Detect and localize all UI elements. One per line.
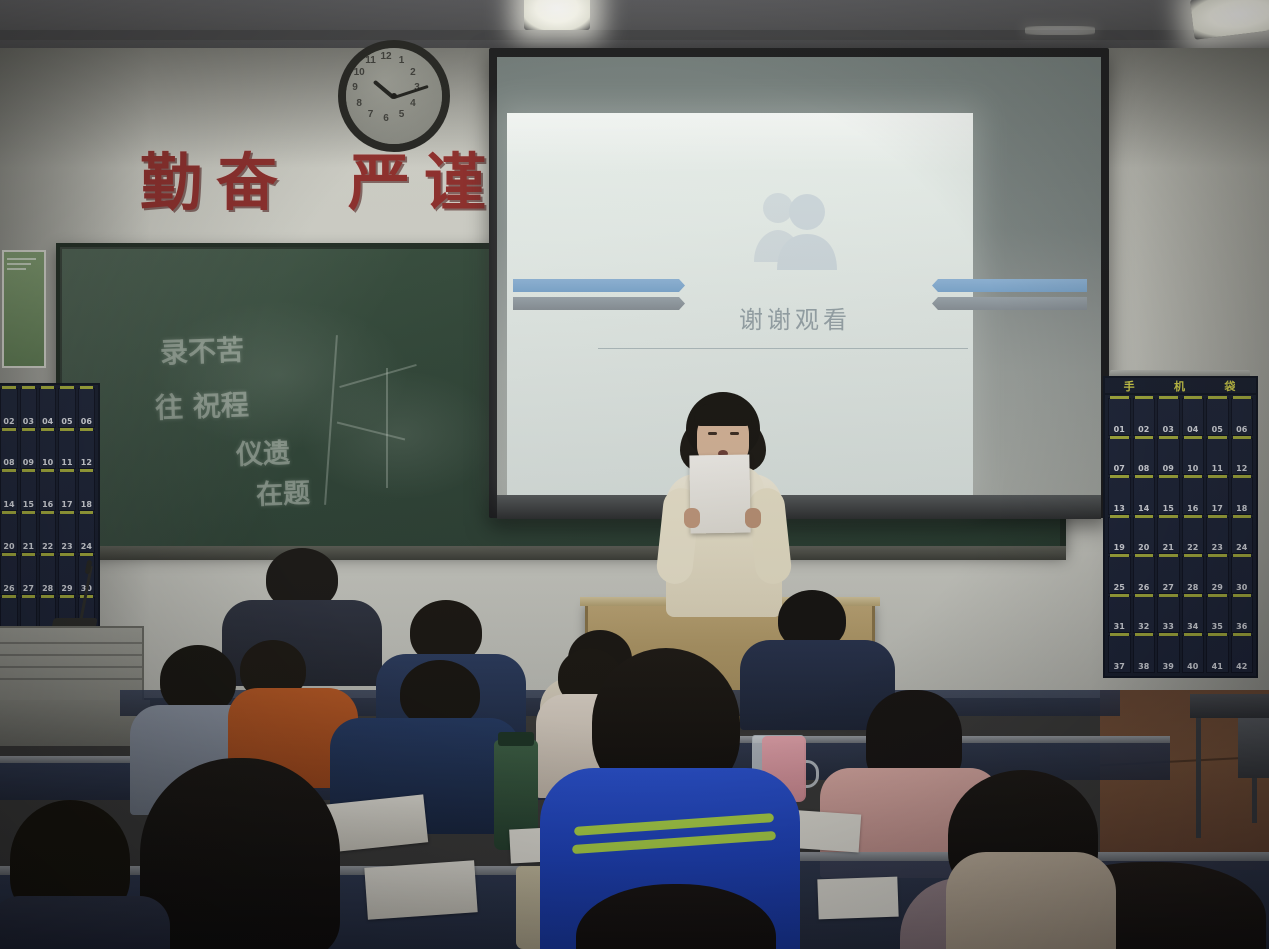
wall-slogan: 勤奋 严谨 (140, 152, 500, 214)
phone-pocket-slot[interactable]: 29 (1206, 556, 1229, 594)
phone-pocket-slot[interactable]: 17 (58, 471, 75, 511)
phone-pocket-slot[interactable]: 04 (39, 388, 56, 428)
clock-numeral: 12 (380, 51, 392, 62)
slide-banner-left (513, 279, 685, 313)
phone-pocket-slot[interactable]: 10 (1182, 438, 1205, 476)
chalk-tray (56, 546, 1066, 560)
phone-pocket-slot[interactable]: 06 (1231, 398, 1254, 436)
phone-pocket-slot[interactable]: 32 (1133, 596, 1156, 634)
clock-numeral: 10 (353, 67, 365, 78)
phone-pocket-slot[interactable]: 29 (58, 555, 75, 595)
projector-highlight (507, 113, 973, 173)
phone-pocket-slot[interactable]: 03 (20, 388, 37, 428)
phone-pocket-slot[interactable]: 22 (39, 513, 56, 553)
equipment-table (1190, 694, 1269, 718)
poster-text-line (7, 268, 26, 270)
phone-pocket-slot[interactable]: 27 (20, 555, 37, 595)
phone-pocket-slot[interactable]: 26 (0, 555, 17, 595)
pocket-header-char: 机 (1174, 378, 1187, 394)
student-front-center-head (576, 884, 776, 949)
notebook (364, 860, 477, 920)
phone-pocket-slot[interactable]: 28 (39, 555, 56, 595)
phone-pocket-slot[interactable]: 24 (78, 513, 95, 553)
phone-pocket-slot[interactable]: 21 (20, 513, 37, 553)
phone-pocket-slot[interactable]: 25 (1108, 556, 1131, 594)
phone-pocket-slot[interactable]: 11 (58, 430, 75, 470)
phone-pocket-slot[interactable]: 20 (0, 513, 17, 553)
poster-text-line (7, 263, 31, 265)
banner-bar-blue (932, 279, 1087, 292)
phone-pocket-slot[interactable]: 16 (39, 471, 56, 511)
chalk-stroke (386, 368, 388, 488)
phone-pocket-slot[interactable]: 09 (20, 430, 37, 470)
clock-numeral: 1 (396, 55, 408, 66)
wall-poster (2, 250, 46, 368)
classroom-photo: 勤奋 严谨 121234567891011 录不苦 往 祝程 仪遗 在题 谢谢观… (0, 0, 1269, 949)
phone-pocket-slot[interactable]: 17 (1206, 477, 1229, 515)
chalk-text-line: 录不苦 (159, 329, 244, 372)
phone-pocket-slot[interactable]: 01 (1108, 398, 1131, 436)
phone-pocket-slot[interactable]: 23 (1206, 517, 1229, 555)
phone-pocket-slot[interactable]: 27 (1157, 556, 1180, 594)
phone-pocket-slot[interactable]: 04 (1182, 398, 1205, 436)
equipment-box (1238, 718, 1269, 778)
student-torso (0, 896, 170, 949)
student-tan-jacket (946, 832, 1116, 949)
phone-pocket-slot[interactable]: 38 (1133, 635, 1156, 673)
phone-pocket-slot[interactable]: 05 (1206, 398, 1229, 436)
presenter-eye-left (708, 432, 717, 435)
student-presenter (648, 392, 798, 617)
clock-numeral: 9 (349, 82, 361, 93)
phone-pocket-slot[interactable]: 23 (58, 513, 75, 553)
clock-numeral: 2 (407, 67, 419, 78)
phone-pocket-slot[interactable]: 19 (1108, 517, 1131, 555)
phone-pocket-slot[interactable]: 15 (20, 471, 37, 511)
student-front-left (0, 800, 170, 949)
phone-pocket-slot[interactable]: 35 (1206, 596, 1229, 634)
clock-numeral: 11 (365, 55, 377, 66)
phone-pocket-slot[interactable]: 06 (78, 388, 95, 428)
phone-pocket-slot[interactable]: 12 (78, 430, 95, 470)
phone-pocket-slot[interactable]: 24 (1231, 517, 1254, 555)
phone-pocket-slot[interactable]: 18 (78, 471, 95, 511)
student-head (576, 884, 776, 949)
phone-pocket-slot[interactable]: 07 (1108, 438, 1131, 476)
ceiling-light-center (1025, 26, 1095, 35)
green-thermos-cap (498, 732, 534, 746)
screen-bottom-rail (497, 495, 1101, 519)
presenter-fringe (694, 404, 752, 426)
phone-pocket-slot[interactable]: 05 (58, 388, 75, 428)
phone-pocket-slot[interactable]: 20 (1133, 517, 1156, 555)
banner-bar-gray (932, 297, 1087, 310)
phone-pocket-slot[interactable]: 40 (1182, 635, 1205, 673)
slide-banner-right (932, 279, 1087, 313)
phone-pocket-slot[interactable]: 30 (1231, 556, 1254, 594)
student-torso (946, 852, 1116, 949)
clock-numeral: 6 (380, 113, 392, 124)
phone-pocket-slot[interactable]: 28 (1182, 556, 1205, 594)
phone-pocket-slot[interactable]: 39 (1157, 635, 1180, 673)
phone-pocket-slot[interactable]: 02 (1133, 398, 1156, 436)
slide-title: 谢谢观看 (700, 300, 890, 335)
clock-numeral: 4 (407, 98, 419, 109)
poster-text-line (7, 258, 36, 260)
clock-numeral: 5 (396, 109, 408, 120)
clock-numeral: 8 (353, 98, 365, 109)
phone-pocket-slot[interactable]: 22 (1182, 517, 1205, 555)
banner-bar-gray (513, 297, 685, 310)
phone-pocket-slot[interactable]: 16 (1182, 477, 1205, 515)
phone-pocket-slot[interactable]: 18 (1231, 477, 1254, 515)
student-hair-long (140, 758, 340, 949)
phone-pocket-slot[interactable]: 08 (0, 430, 17, 470)
phone-pocket-slot[interactable]: 08 (1133, 438, 1156, 476)
chalk-text-line: 在题 (255, 471, 310, 512)
phone-pocket-slot[interactable]: 41 (1206, 635, 1229, 673)
slide-divider (598, 348, 968, 349)
chalk-text-line: 仪遗 (235, 431, 290, 472)
phone-pocket-slot[interactable]: 34 (1182, 596, 1205, 634)
pocket-header-char: 手 (1124, 378, 1137, 394)
phone-pocket-slot[interactable]: 03 (1157, 398, 1180, 436)
clock-numeral: 7 (365, 109, 377, 120)
phone-pocket-slot[interactable]: 11 (1206, 438, 1229, 476)
chalk-text-line: 往 祝程 (154, 383, 249, 426)
phone-pocket-slot[interactable]: 31 (1108, 596, 1131, 634)
ceiling-light-left (524, 0, 590, 30)
wall-clock: 121234567891011 (338, 40, 450, 152)
slogan-word-2: 严谨 (348, 152, 500, 214)
phone-pocket-slot[interactable]: 02 (0, 388, 17, 428)
slogan-word-1: 勤奋 (140, 152, 292, 214)
phone-pocket-slot[interactable]: 14 (1133, 477, 1156, 515)
phone-pocket-chart-right[interactable]: 0102030405060708091011121314151617181920… (1103, 393, 1258, 678)
phone-pocket-slot[interactable]: 14 (0, 471, 17, 511)
presenter-eye-right (730, 432, 739, 435)
people-icon (750, 186, 840, 274)
phone-pocket-slot[interactable]: 12 (1231, 438, 1254, 476)
phone-pocket-slot[interactable]: 37 (1108, 635, 1131, 673)
phone-pocket-slot[interactable]: 10 (39, 430, 56, 470)
paper-sheet (817, 877, 898, 920)
phone-pocket-slot[interactable]: 09 (1157, 438, 1180, 476)
phone-pocket-slot[interactable]: 26 (1133, 556, 1156, 594)
presenter-hand-right (745, 508, 761, 528)
phone-pocket-slot[interactable]: 21 (1157, 517, 1180, 555)
phone-pocket-slot[interactable]: 15 (1157, 477, 1180, 515)
phone-pocket-slot[interactable]: 13 (1108, 477, 1131, 515)
phone-pocket-slot[interactable]: 42 (1231, 635, 1254, 673)
presenter-hand-left (684, 508, 700, 528)
phone-pocket-slot[interactable]: 33 (1157, 596, 1180, 634)
phone-pocket-slot[interactable]: 36 (1231, 596, 1254, 634)
student-blue-navy (330, 660, 520, 820)
clock-center-pin (391, 93, 397, 99)
pocket-header-char: 袋 (1224, 378, 1237, 394)
banner-bar-blue (513, 279, 685, 292)
